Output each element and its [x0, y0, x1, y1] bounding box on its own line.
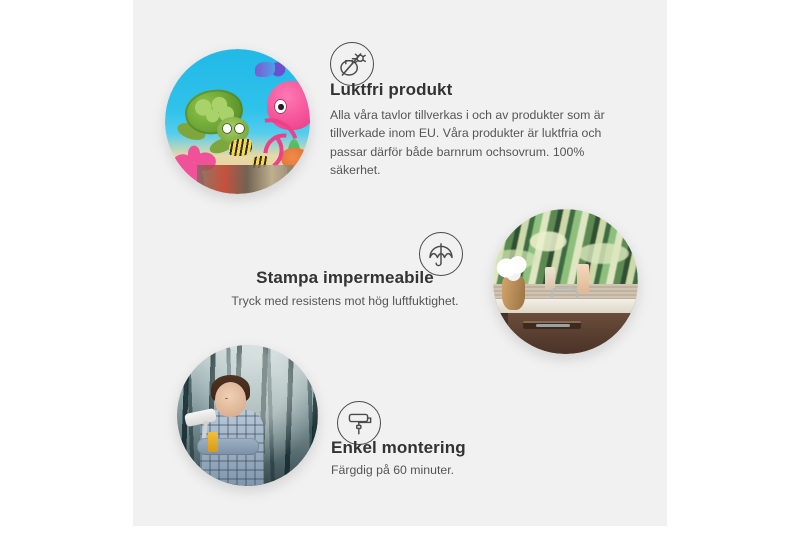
- woman-face: [215, 382, 246, 417]
- bottle-shape: [577, 264, 589, 293]
- fish-shape: [255, 62, 275, 77]
- bathroom-botanical-photo: [493, 209, 638, 354]
- feature-title-easy-mounting: Enkel montering: [331, 438, 581, 458]
- cabinet-handle: [536, 324, 570, 327]
- hand-tool: [208, 432, 218, 452]
- photo-bottom-strip: [197, 165, 293, 194]
- woman-smile: [225, 396, 228, 398]
- feature-description-odour-free: Alla våra tavlor tillverkas i och av pro…: [330, 106, 618, 178]
- feature-description-waterproof: Tryck med resistens mot hög luftfuktighe…: [203, 292, 487, 310]
- underwater-cartoon-photo: [165, 49, 310, 194]
- woman-paint-roller-forest-photo: [177, 345, 318, 486]
- wood-cabinet: [508, 313, 639, 354]
- infographic-stage: Luktfri produkt Alla våra tavlor tillver…: [0, 0, 800, 533]
- flowers-shape: [496, 255, 531, 281]
- feature-text-waterproof: Stampa impermeabile Tryck med resistens …: [203, 268, 487, 310]
- feature-text-odour-free: Luktfri produkt Alla våra tavlor tillver…: [330, 80, 618, 179]
- feature-description-easy-mounting: Färgdig på 60 minuter.: [331, 461, 581, 479]
- cabinet-handle: [612, 343, 615, 351]
- woman-folded-arms: [197, 438, 259, 455]
- feature-text-easy-mounting: Enkel montering Färgdig på 60 minuter.: [331, 438, 581, 479]
- feature-title-waterproof: Stampa impermeabile: [203, 268, 487, 288]
- feature-title-odour-free: Luktfri produkt: [330, 80, 618, 100]
